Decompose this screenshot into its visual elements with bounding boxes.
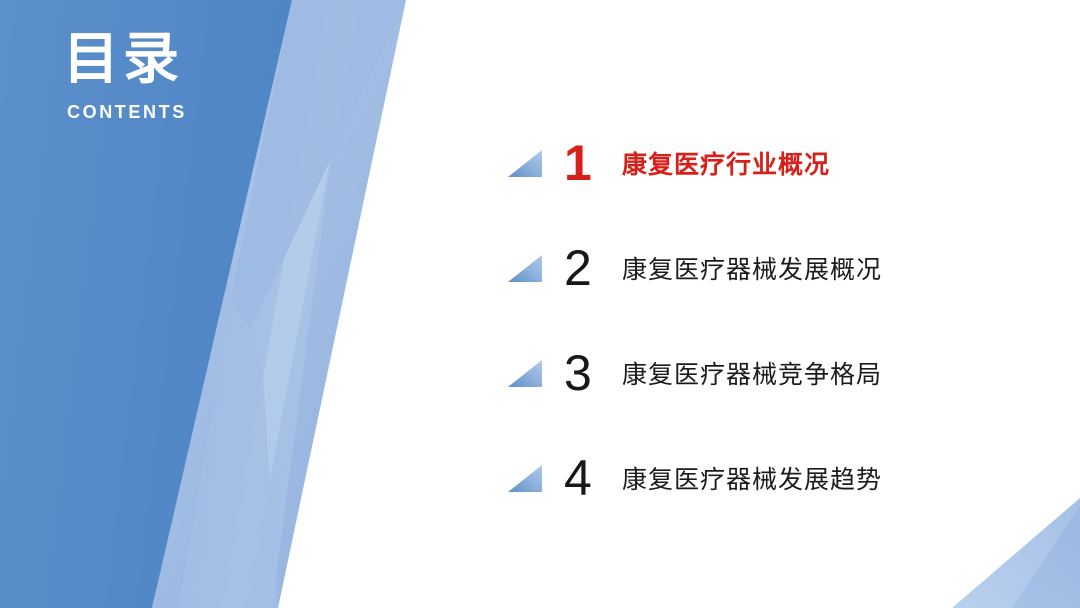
contents-item-number: 1 [564,138,622,188]
contents-slide: 目录 CONTENTS 1 康复医疗行业概况 2 康复医疗器械发展概况 3 康复… [0,0,1080,608]
contents-item-label: 康复医疗器械竞争格局 [622,355,882,391]
contents-item-label: 康复医疗器械发展趋势 [622,460,882,496]
contents-item-label: 康复医疗行业概况 [622,145,830,181]
contents-item-label: 康复医疗器械发展概况 [622,250,882,286]
contents-item-4[interactable]: 4 康复医疗器械发展趋势 [508,446,1028,510]
contents-item-3[interactable]: 3 康复医疗器械竞争格局 [508,341,1028,405]
contents-item-number: 3 [564,348,622,398]
triangle-marker-icon [508,360,542,387]
contents-item-2[interactable]: 2 康复医疗器械发展概况 [508,236,1028,300]
contents-item-1[interactable]: 1 康复医疗行业概况 [508,131,1028,195]
triangle-marker-icon [508,150,542,177]
triangle-marker-icon [508,465,542,492]
title-block: 目录 CONTENTS [63,32,187,123]
page-subtitle: CONTENTS [67,102,187,123]
contents-item-number: 4 [564,453,622,503]
contents-list: 1 康复医疗行业概况 2 康复医疗器械发展概况 3 康复医疗器械竞争格局 4 康… [508,131,1028,510]
contents-item-number: 2 [564,243,622,293]
triangle-marker-icon [508,255,542,282]
page-title: 目录 [63,32,187,88]
